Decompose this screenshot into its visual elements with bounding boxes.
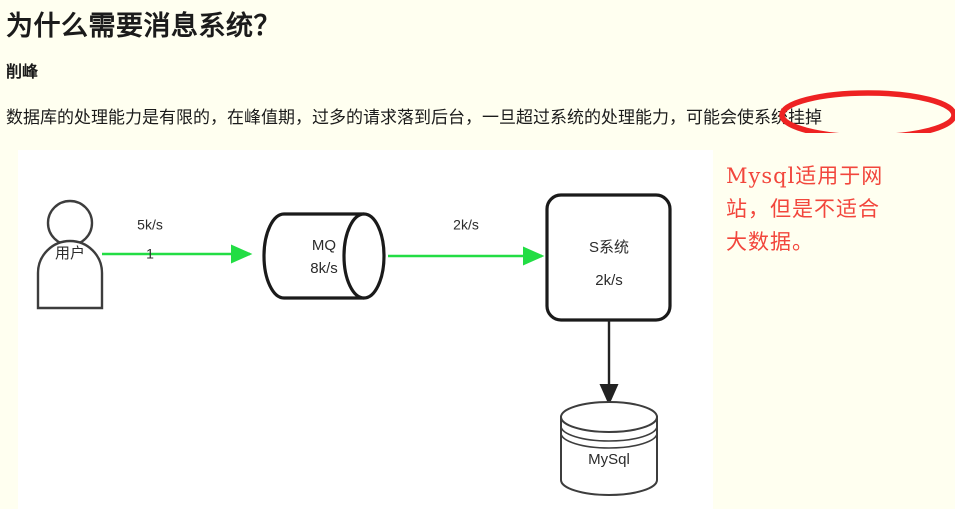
body-paragraph: 数据库的处理能力是有限的，在峰值期，过多的请求落到后台，一旦超过系统的处理能力，… <box>6 103 822 128</box>
edge-user-to-mq-rate: 5k/s <box>137 217 163 233</box>
section-heading: 削峰 <box>6 58 38 82</box>
actor-user-node: 用户 <box>38 201 102 308</box>
edge-mq-to-service: 2k/s <box>388 217 542 256</box>
edge-user-to-mq: 5k/s 1 <box>102 217 250 262</box>
edge-user-to-mq-count: 1 <box>146 246 154 262</box>
service-rate-label: 2k/s <box>595 272 623 289</box>
red-note-line-3: 大数据。 <box>726 226 941 259</box>
service-label: S系统 <box>589 239 629 256</box>
red-note-line-2: 站，但是不适合 <box>726 193 941 226</box>
edge-mq-to-service-rate: 2k/s <box>453 217 479 233</box>
mq-node: MQ 8k/s <box>264 214 384 298</box>
mq-label: MQ <box>312 237 336 254</box>
actor-user-label: 用户 <box>55 245 85 262</box>
database-node: MySql <box>561 402 657 495</box>
service-node: S系统 2k/s <box>547 195 670 320</box>
database-label: MySql <box>588 451 630 468</box>
diagram-area: 用户 5k/s 1 MQ 8k/s 2k/s S系统 2k/s <box>0 133 955 509</box>
page-title: 为什么需要消息系统？ <box>6 4 281 43</box>
red-annotation-note: Mysql适用于网 站，但是不适合 大数据。 <box>726 160 941 259</box>
red-note-line-1: Mysql适用于网 <box>726 160 941 193</box>
mq-rate-label: 8k/s <box>310 260 338 277</box>
